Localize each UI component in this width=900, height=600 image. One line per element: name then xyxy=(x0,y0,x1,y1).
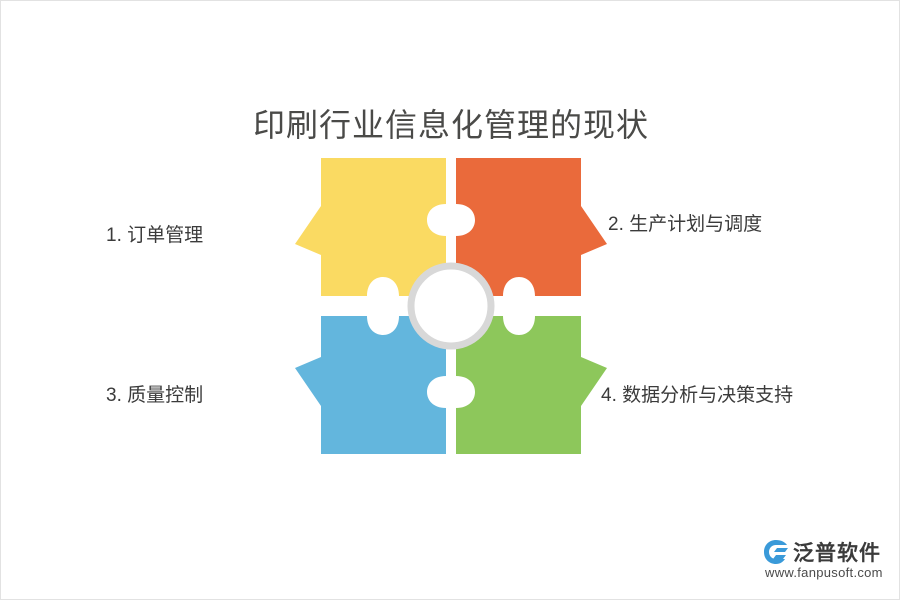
label-data-analysis: 4. 数据分析与决策支持 xyxy=(601,383,793,409)
logo-mark-icon xyxy=(763,539,789,565)
center-ring xyxy=(411,266,491,346)
page-title: 印刷行业信息化管理的现状 xyxy=(1,104,900,146)
slide-canvas: 印刷行业信息化管理的现状 1. 订单管理 2. 生产计划与调度 3. 质量控制 … xyxy=(0,0,900,600)
puzzle-diagram xyxy=(281,146,621,466)
label-quality-control: 3. 质量控制 xyxy=(106,383,203,409)
label-production-planning: 2. 生产计划与调度 xyxy=(608,212,762,238)
brand-logo: 泛普软件 www.fanpusoft.com xyxy=(763,537,887,589)
logo-url: www.fanpusoft.com xyxy=(765,565,883,580)
label-order-management: 1. 订单管理 xyxy=(106,223,203,249)
logo-name: 泛普软件 xyxy=(793,537,881,567)
